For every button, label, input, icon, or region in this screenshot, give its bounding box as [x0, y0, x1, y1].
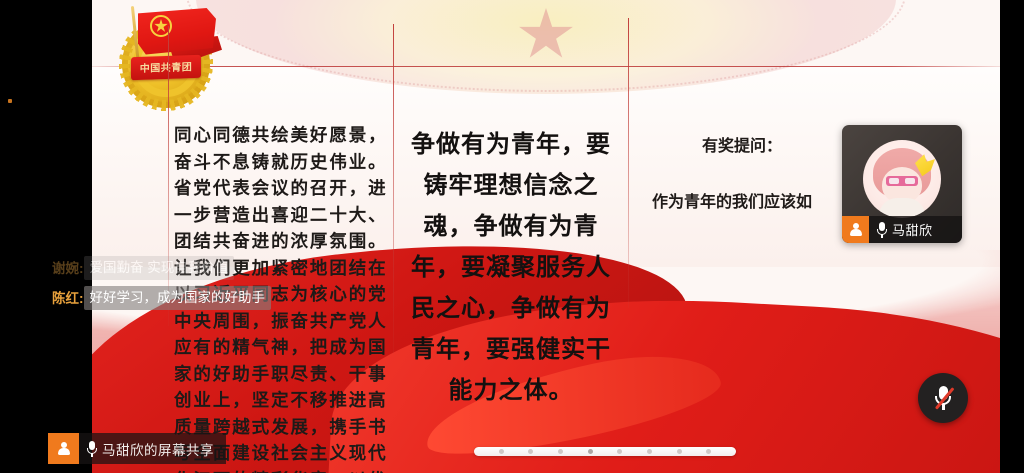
avatar-glasses: [886, 176, 918, 186]
chat-message: 陈红: 好好学习，成为国家的好助手: [48, 286, 378, 310]
pager-dot[interactable]: [617, 449, 622, 454]
person-icon: [842, 216, 869, 243]
pager-dot[interactable]: [499, 449, 504, 454]
chat-text: 爱国勤奋 实现自我价值: [84, 256, 235, 280]
self-view-video-tile[interactable]: 马甜欣: [842, 125, 962, 243]
avatar: [863, 140, 941, 218]
pager-dot-active[interactable]: [588, 449, 593, 454]
pager-dot[interactable]: [677, 449, 682, 454]
slide-pager[interactable]: [474, 447, 736, 456]
header-divider: [92, 66, 1000, 67]
column-divider-3: [628, 18, 629, 308]
pager-dot[interactable]: [647, 449, 652, 454]
pager-dot[interactable]: [528, 449, 533, 454]
person-icon: [48, 433, 79, 464]
participant-name: 马甜欣: [888, 220, 933, 239]
mic-icon: [876, 222, 888, 238]
screen-share-label: 马甜欣的屏幕共享: [98, 439, 226, 459]
avatar-body: [879, 198, 925, 216]
mute-toggle-button[interactable]: [918, 373, 968, 423]
chat-sender: 谢婉:: [48, 258, 84, 279]
self-view-footer: 马甜欣: [842, 216, 962, 243]
chat-text: 好好学习，成为国家的好助手: [84, 286, 272, 310]
pager-dot[interactable]: [706, 449, 711, 454]
status-dot: [8, 99, 12, 103]
chat-message: 谢婉: 爱国勤奋 实现自我价值: [48, 256, 378, 280]
chat-sender: 陈红:: [48, 288, 84, 309]
slide-text-middle: 争做有为青年，要铸牢理想信念之魂，争做有为青年，要凝聚服务人民之心，争做有为青年…: [404, 124, 618, 411]
screen-share-banner: 马甜欣的屏幕共享: [48, 433, 226, 464]
mic-icon: [86, 441, 98, 457]
emblem-banner: 中国共青团: [131, 55, 201, 80]
mic-muted-icon: [933, 385, 953, 411]
meeting-screen: 中国共青团 同心同德共绘美好愿景，奋斗不息铸就历史伟业。省党代表会议的召开，进一…: [0, 0, 1024, 473]
emblem-banner-text: 中国共青团: [131, 58, 201, 75]
pager-dot[interactable]: [558, 449, 563, 454]
chat-overlay: 谢婉: 爱国勤奋 实现自我价值 陈红: 好好学习，成为国家的好助手: [48, 250, 378, 310]
communist-youth-league-emblem: 中国共青团: [112, 4, 222, 112]
column-divider-2: [393, 24, 394, 354]
